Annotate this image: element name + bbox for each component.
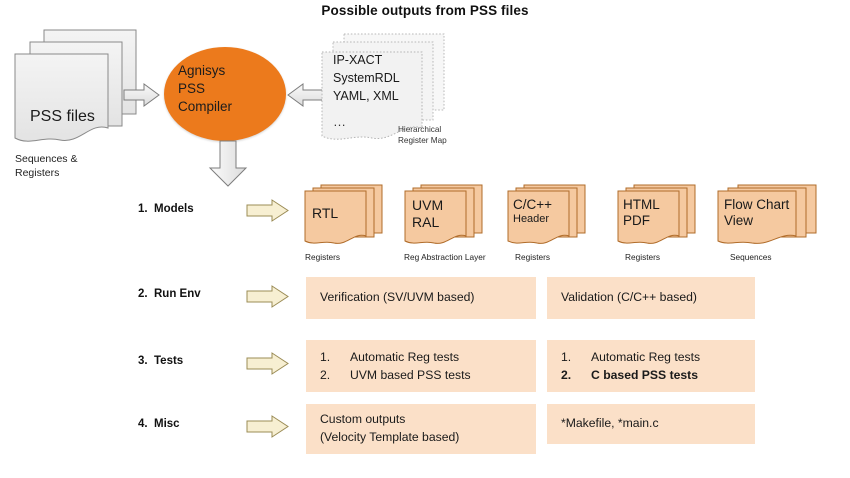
misc-left-line1: Custom outputs xyxy=(320,411,522,429)
list-item-text: Automatic Reg tests xyxy=(591,348,700,366)
compiler-label: Agnisys PSS Compiler xyxy=(178,62,288,116)
right-arrow-icon xyxy=(123,82,161,108)
pss-files-label: PSS files xyxy=(30,108,130,126)
run-env-verification-box: Verification (SV/UVM based) xyxy=(306,277,536,319)
list-item-number: 2. xyxy=(320,366,350,384)
row-label-misc: 4.Misc xyxy=(138,418,180,430)
model-card-uvm-ral-caption: Reg Abstraction Layer xyxy=(404,252,486,262)
list-item: 1.Automatic Reg tests xyxy=(561,348,741,366)
row-label-tests: 3.Tests xyxy=(138,355,183,367)
row-title-3: Tests xyxy=(154,355,183,367)
compiler-line3: Compiler xyxy=(178,98,288,116)
tests-left-list: 1.Automatic Reg tests 2.UVM based PSS te… xyxy=(320,348,522,385)
run-env-validation-text: Validation (C/C++ based) xyxy=(561,289,741,307)
row-label-models: 1.Models xyxy=(138,203,194,215)
row-label-run-env: 2.Run Env xyxy=(138,288,201,300)
pss-files-caption: Sequences & Registers xyxy=(15,152,145,180)
pss-caption-line1: Sequences & xyxy=(15,152,145,166)
card-line1: RTL xyxy=(312,205,338,222)
model-card-html-pdf-text: HTML PDF xyxy=(623,197,660,229)
list-item-number: 2. xyxy=(561,366,591,384)
card-line2: PDF xyxy=(623,213,660,229)
card-line1: UVM xyxy=(412,197,443,214)
page-title: Possible outputs from PSS files xyxy=(0,3,850,18)
source-line3: YAML, XML xyxy=(333,88,453,106)
right-arrow-icon xyxy=(246,352,290,375)
tests-right-list: 1.Automatic Reg tests 2.C based PSS test… xyxy=(561,348,741,385)
card-line2: RAL xyxy=(412,214,443,231)
tests-verification-box: 1.Automatic Reg tests 2.UVM based PSS te… xyxy=(306,340,536,392)
misc-makefile-box: *Makefile, *main.c xyxy=(547,404,755,444)
model-card-flow-chart-caption: Sequences xyxy=(730,252,772,262)
card-line1: C/C++ xyxy=(513,197,552,213)
pss-caption-line2: Registers xyxy=(15,166,145,180)
down-arrow-icon xyxy=(205,140,251,188)
card-line1: Flow Chart xyxy=(724,197,789,213)
run-env-verification-text: Verification (SV/UVM based) xyxy=(320,289,522,307)
diagram-canvas: Possible outputs from PSS files PSS file… xyxy=(0,0,850,478)
register-sources-label: IP-XACT SystemRDL YAML, XML xyxy=(333,52,453,105)
right-arrow-icon xyxy=(246,285,290,308)
compiler-line1: Agnisys xyxy=(178,62,288,80)
register-sources-caption: Hierarchical Register Map xyxy=(398,124,498,146)
card-line2: Header xyxy=(513,213,552,226)
list-item: 2.C based PSS tests xyxy=(561,366,741,384)
model-card-uvm-ral-text: UVM RAL xyxy=(412,197,443,230)
model-card-rtl-caption: Registers xyxy=(305,252,340,262)
row-number-1: 1. xyxy=(138,203,154,215)
source-caption-line1: Hierarchical xyxy=(398,124,498,135)
row-number-4: 4. xyxy=(138,418,154,430)
row-title-2: Run Env xyxy=(154,288,201,300)
list-item-text: UVM based PSS tests xyxy=(350,366,471,384)
list-item-text: Automatic Reg tests xyxy=(350,348,459,366)
list-item-number: 1. xyxy=(561,348,591,366)
source-caption-line2: Register Map xyxy=(398,135,498,146)
model-card-c-header-text: C/C++ Header xyxy=(513,197,552,226)
source-ellipsis: … xyxy=(333,114,347,129)
right-arrow-icon xyxy=(246,415,290,438)
right-arrow-icon xyxy=(246,199,290,222)
source-line2: SystemRDL xyxy=(333,70,453,88)
row-number-3: 3. xyxy=(138,355,154,367)
card-line1: HTML xyxy=(623,197,660,213)
model-card-html-pdf-caption: Registers xyxy=(625,252,660,262)
model-card-flow-chart-text: Flow Chart View xyxy=(724,197,789,229)
left-arrow-icon xyxy=(286,82,324,108)
source-line1: IP-XACT xyxy=(333,52,453,70)
misc-custom-outputs-box: Custom outputs (Velocity Template based) xyxy=(306,404,536,454)
row-number-2: 2. xyxy=(138,288,154,300)
list-item: 1.Automatic Reg tests xyxy=(320,348,522,366)
list-item: 2.UVM based PSS tests xyxy=(320,366,522,384)
list-item-number: 1. xyxy=(320,348,350,366)
misc-right-text: *Makefile, *main.c xyxy=(561,415,741,433)
model-card-rtl-text: RTL xyxy=(312,205,338,222)
row-title-1: Models xyxy=(154,203,194,215)
misc-left-line2: (Velocity Template based) xyxy=(320,429,522,447)
tests-validation-box: 1.Automatic Reg tests 2.C based PSS test… xyxy=(547,340,755,392)
model-card-c-header-caption: Registers xyxy=(515,252,550,262)
row-title-4: Misc xyxy=(154,418,180,430)
list-item-text: C based PSS tests xyxy=(591,366,698,384)
run-env-validation-box: Validation (C/C++ based) xyxy=(547,277,755,319)
compiler-line2: PSS xyxy=(178,80,288,98)
card-line2: View xyxy=(724,213,789,229)
